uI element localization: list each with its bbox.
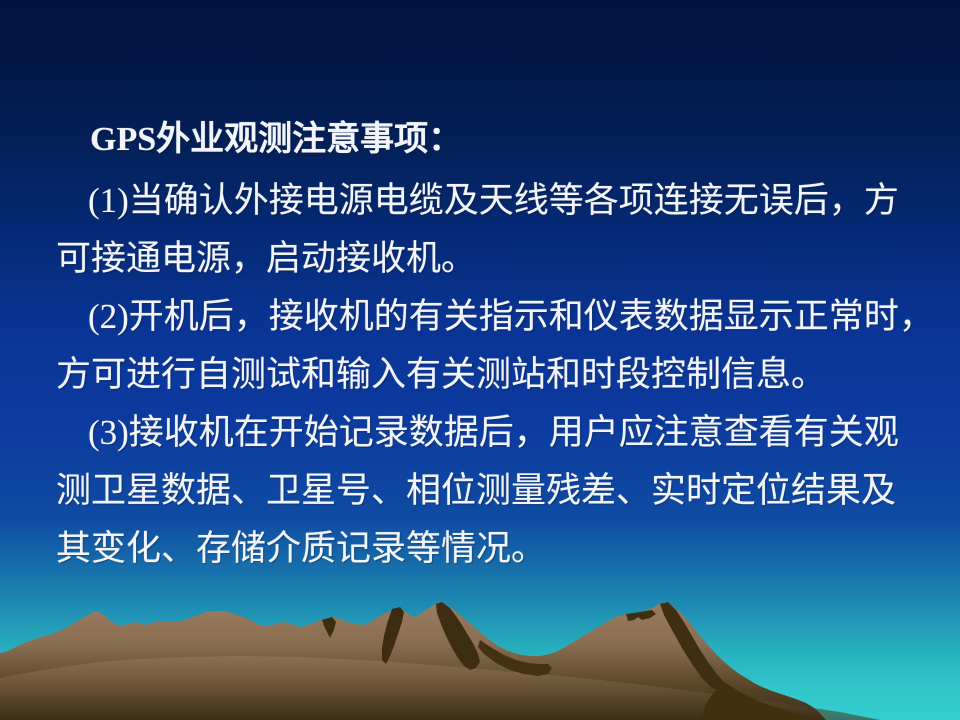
- bullet-line-5: (3)接收机在开始记录数据后，用户应注意查看有关观: [88, 404, 899, 462]
- mountain-range-graphic: [0, 600, 960, 720]
- bullet-line-1: (1)当确认外接电源电缆及天线等各项连接无误后，方: [88, 172, 899, 230]
- bullet-line-2: 可接通电源，启动接收机。: [56, 230, 476, 288]
- bullet-line-4: 方可进行自测试和输入有关测站和时段控制信息。: [56, 346, 826, 404]
- slide-canvas: GPS外业观测注意事项： (1)当确认外接电源电缆及天线等各项连接无误后，方 可…: [0, 0, 960, 720]
- bullet-line-7: 其变化、存储介质记录等情况。: [56, 520, 546, 578]
- bullet-line-3: (2)开机后，接收机的有关指示和仪表数据显示正常时，: [88, 288, 934, 346]
- slide-title: GPS外业观测注意事项：: [90, 111, 462, 169]
- bullet-line-6: 测卫星数据、卫星号、相位测量残差、实时定位结果及: [56, 462, 896, 520]
